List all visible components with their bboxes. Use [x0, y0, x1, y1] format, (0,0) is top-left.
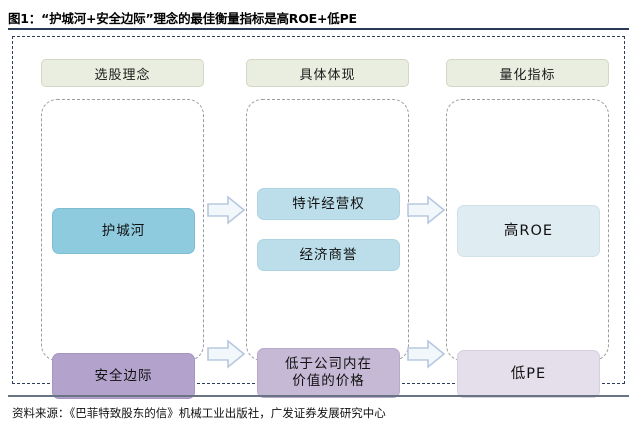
column-header-concrete-manifestation: 具体体现 — [246, 59, 409, 87]
column-header-selection-philosophy: 选股理念 — [41, 59, 204, 87]
node-below-intrinsic-price-label-line1: 低于公司内在 — [285, 356, 372, 373]
column-header-label: 具体体现 — [299, 64, 355, 83]
page-title: 图1：“护城河+安全边际”理念的最佳衡量指标是高ROE+低PE — [8, 8, 357, 27]
node-below-intrinsic-price[interactable]: 低于公司内在 价值的价格 — [257, 348, 400, 398]
diagram-column-concrete-manifestation: 具体体现 特许经营权 经济商誉 低于公司内在 价值的价格 — [246, 37, 409, 385]
title-divider — [8, 28, 629, 30]
arrow-right-icon-manifestation-to-roe — [407, 195, 445, 225]
node-margin-of-safety-label: 安全边际 — [95, 368, 153, 385]
footer-divider — [8, 395, 629, 397]
node-economic-goodwill-label: 经济商誉 — [300, 247, 358, 264]
node-moat-label: 护城河 — [102, 223, 146, 240]
node-moat[interactable]: 护城河 — [52, 208, 195, 254]
column-header-quantitative-indicator: 量化指标 — [446, 59, 609, 87]
column-body-concrete-manifestation: 特许经营权 经济商誉 低于公司内在 价值的价格 — [246, 99, 409, 361]
node-high-roe[interactable]: 高ROE — [457, 205, 600, 257]
node-franchise-label: 特许经营权 — [292, 196, 365, 213]
column-header-label: 量化指标 — [499, 64, 555, 83]
node-high-roe-label: 高ROE — [504, 222, 553, 240]
figure-source-text: 资料来源：《巴菲特致股东的信》机械工业出版社，广发证券发展研究中心 — [12, 405, 386, 421]
arrow-right-icon-moat-to-franchise — [207, 195, 245, 225]
column-body-quantitative-indicator: 高ROE 低PE — [446, 99, 609, 361]
node-low-pe[interactable]: 低PE — [457, 350, 600, 398]
column-header-label: 选股理念 — [94, 64, 150, 83]
diagram-frame: 选股理念 护城河 安全边际 具体体现 特许经营权 经济商誉 — [12, 36, 625, 384]
node-below-intrinsic-price-label-line2: 价值的价格 — [292, 373, 365, 390]
figure-source: 资料来源：《巴菲特致股东的信》机械工业出版社，广发证券发展研究中心 — [12, 402, 629, 424]
arrow-right-icon-margin-to-price — [207, 339, 245, 369]
node-franchise[interactable]: 特许经营权 — [257, 188, 400, 220]
figure-page: 图1：“护城河+安全边际”理念的最佳衡量指标是高ROE+低PE 选股理念 护城河… — [0, 0, 637, 429]
figure-title-bar: 图1：“护城河+安全边际”理念的最佳衡量指标是高ROE+低PE — [8, 6, 629, 28]
node-economic-goodwill[interactable]: 经济商誉 — [257, 239, 400, 271]
node-margin-of-safety[interactable]: 安全边际 — [52, 353, 195, 399]
column-body-selection-philosophy: 护城河 安全边际 — [41, 99, 204, 361]
arrow-right-icon-price-to-pe — [407, 339, 445, 369]
diagram-column-quantitative-indicator: 量化指标 高ROE 低PE — [446, 37, 609, 385]
diagram-column-selection-philosophy: 选股理念 护城河 安全边际 — [41, 37, 204, 385]
node-low-pe-label: 低PE — [511, 365, 546, 383]
